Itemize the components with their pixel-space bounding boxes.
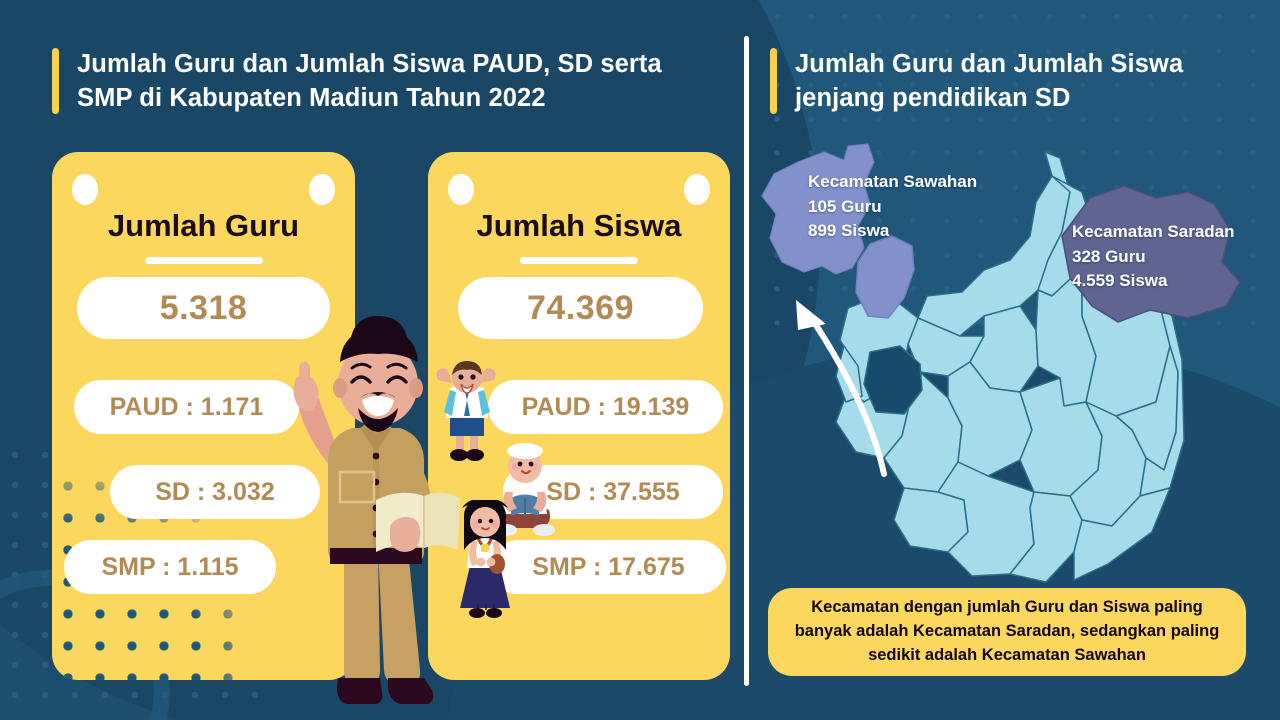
- punch-hole-right-icon: [309, 174, 335, 205]
- summary-note-box: Kecamatan dengan jumlah Guru dan Siswa p…: [768, 588, 1246, 676]
- map-label-saradan: Kecamatan Saradan 328 Guru 4.559 Siswa: [1072, 220, 1235, 294]
- punch-hole-left-icon: [448, 174, 474, 205]
- card-title-underline: [520, 257, 638, 264]
- saradan-guru: 328 Guru: [1072, 245, 1235, 270]
- map-label-sawahan: Kecamatan Sawahan 105 Guru 899 Siswa: [808, 170, 977, 244]
- panel-divider: [744, 36, 749, 686]
- card-title-guru: Jumlah Guru: [52, 208, 355, 244]
- saradan-name: Kecamatan Saradan: [1072, 220, 1235, 245]
- siswa-paud-value: PAUD : 19.139: [488, 380, 723, 434]
- punch-hole-right-icon: [684, 174, 710, 205]
- saradan-siswa: 4.559 Siswa: [1072, 269, 1235, 294]
- siswa-total-value: 74.369: [458, 277, 703, 339]
- guru-paud-value: PAUD : 1.171: [74, 380, 299, 434]
- pointer-arrowhead-icon: [796, 300, 826, 330]
- card-title-siswa: Jumlah Siswa: [428, 208, 730, 244]
- right-panel-heading: Jumlah Guru dan Jumlah Siswa jenjang pen…: [770, 48, 1240, 116]
- left-panel-heading: Jumlah Guru dan Jumlah Siswa PAUD, SD se…: [52, 48, 712, 116]
- heading-accent-bar: [52, 48, 59, 114]
- right-panel-title: Jumlah Guru dan Jumlah Siswa jenjang pen…: [795, 48, 1240, 116]
- card-title-underline: [145, 257, 263, 264]
- district-sawahan-highlight: [856, 236, 914, 318]
- siswa-smp-value: SMP : 17.675: [491, 540, 726, 594]
- guru-smp-value: SMP : 1.115: [64, 540, 276, 594]
- summary-note-text: Kecamatan dengan jumlah Guru dan Siswa p…: [784, 596, 1230, 668]
- student-smp-illustration: [448, 500, 522, 622]
- left-panel-title: Jumlah Guru dan Jumlah Siswa PAUD, SD se…: [77, 48, 712, 116]
- sawahan-siswa: 899 Siswa: [808, 219, 977, 244]
- punch-hole-left-icon: [72, 174, 98, 205]
- sawahan-guru: 105 Guru: [808, 195, 977, 220]
- heading-accent-bar: [770, 48, 777, 114]
- sawahan-name: Kecamatan Sawahan: [808, 170, 977, 195]
- infographic-canvas: Jumlah Guru dan Jumlah Siswa PAUD, SD se…: [0, 0, 1280, 720]
